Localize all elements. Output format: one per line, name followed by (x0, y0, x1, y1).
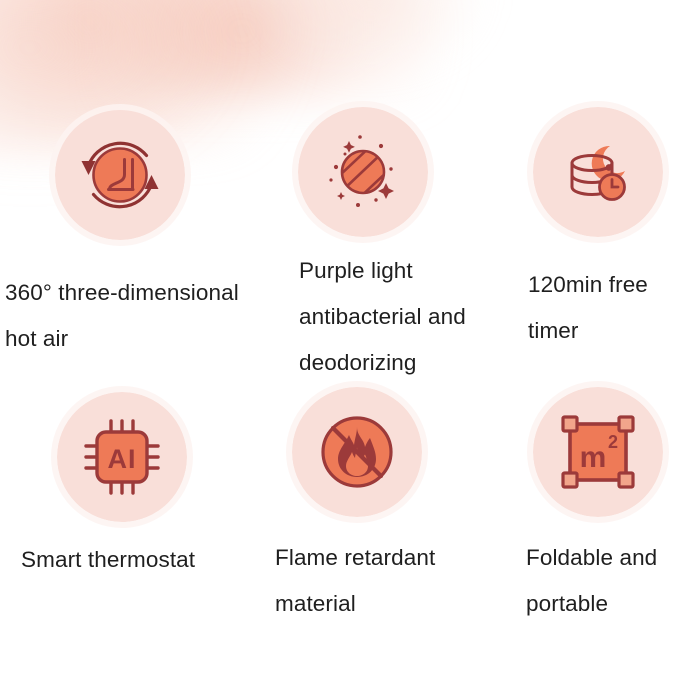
feature-caption-thermostat: Smart thermostat (21, 537, 281, 583)
feature-icon-badge-antibacterial (298, 107, 428, 237)
feature-caption-timer: 120min free timer (528, 262, 700, 354)
timer-stack-moon-clock-icon (550, 124, 646, 220)
feature-icon-badge-foldable: m 2 (533, 387, 663, 517)
feature-icon-badge-thermostat: AI (57, 392, 187, 522)
no-flame-icon (307, 402, 407, 502)
feature-caption-flame-retardant: Flame retardant material (275, 535, 510, 627)
feature-caption-hot-air: 360° three-dimensional hot air (5, 270, 295, 362)
ai-chip-icon: AI (74, 409, 170, 505)
features-grid: 360° three-dimensional hot air (0, 0, 700, 700)
feature-caption-antibacterial: Purple light antibacterial and deodorizi… (299, 248, 514, 386)
feature-icon-badge-timer (533, 107, 663, 237)
feature-grid-page: 360° three-dimensional hot air (0, 0, 700, 700)
svg-text:m: m (580, 441, 607, 474)
svg-text:2: 2 (608, 432, 618, 452)
square-meter-area-icon: m 2 (550, 404, 646, 500)
rotating-boot-hot-air-icon (72, 127, 168, 223)
feature-icon-badge-hot-air (55, 110, 185, 240)
svg-text:AI: AI (108, 444, 137, 474)
feature-caption-foldable: Foldable and portable (526, 535, 700, 627)
uv-sphere-sparkle-icon (315, 124, 411, 220)
feature-icon-badge-flame-retardant (292, 387, 422, 517)
